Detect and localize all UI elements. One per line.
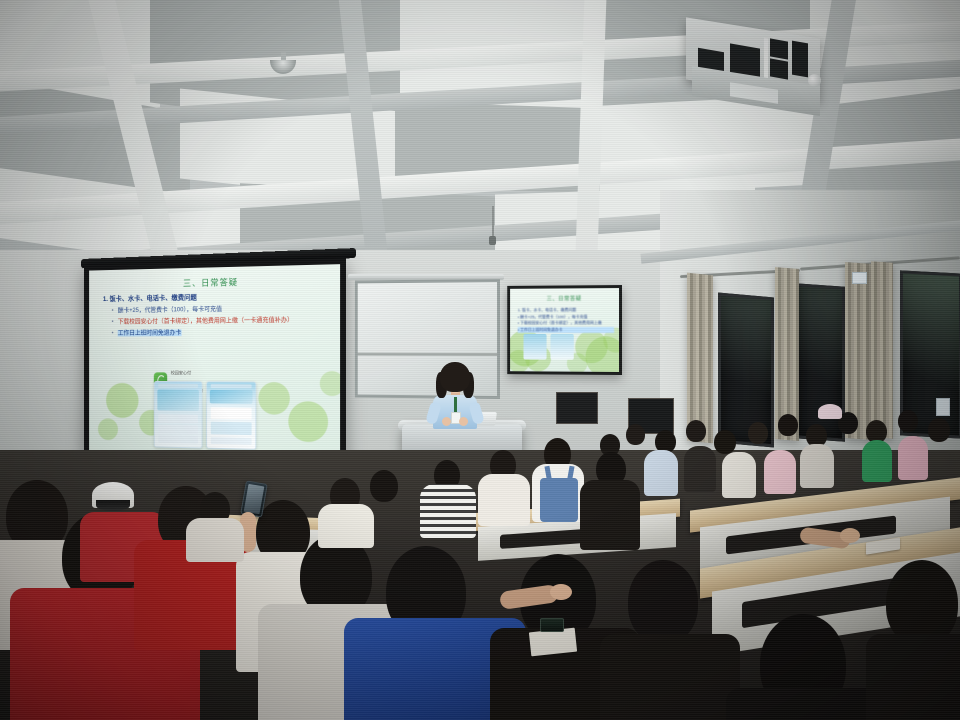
student-blue-shirt [644, 450, 678, 496]
projection-screen-right: 三、日常答疑 1. 饭卡、水卡、电话卡、缴费问题 • 酬卡+25，代管费卡（10… [507, 285, 622, 375]
wall-sign [936, 398, 950, 416]
window-curtain [871, 261, 893, 439]
hand [840, 528, 860, 543]
slide-app-thumb [550, 334, 573, 360]
student-green-top [862, 440, 892, 482]
ceiling-projector-unit [686, 28, 826, 113]
student-white-top [186, 518, 244, 562]
slide-line: • 工作日上班时间免退办卡 [112, 327, 331, 338]
student-white-top [722, 452, 756, 498]
slide-line-text: 下载校园安心付（首卡绑定），其他费用网上缴（一卡通充值补办） [118, 317, 294, 326]
phone-screen [244, 484, 265, 514]
slide-line-marker: 1. [103, 296, 108, 303]
slide-line-text: 饭卡、水卡、电话卡、缴费问题 [110, 295, 197, 303]
student-dark-top [684, 446, 716, 492]
hand [550, 584, 572, 600]
student-white-top [800, 444, 834, 488]
slide-left: 三、日常答疑 1. 饭卡、水卡、电话卡、缴费问题 • 酬卡+25，代管费卡（10… [89, 264, 340, 457]
presenter-hair [440, 362, 470, 392]
slide-body: 1. 饭卡、水卡、电话卡、缴费问题 • 酬卡+25，代管费卡（100），每卡充值… [518, 307, 614, 333]
slide-body: 1. 饭卡、水卡、电话卡、缴费问题 • 酬卡+25，代管费卡（100），每卡可充… [103, 291, 330, 340]
slide-app-figure: 校园安心付 校园生活服务平台 [154, 362, 264, 448]
slide-title: 三、日常答疑 [89, 273, 340, 291]
student-pink-top [764, 450, 796, 494]
slide-line-text: 酬卡+25，代管费卡（100），每卡可充值 [118, 306, 222, 314]
window [718, 293, 774, 448]
slide-line: • 工作日上班时间免退办卡 [518, 327, 614, 333]
classroom-photo-scene: 三、日常答疑 1. 饭卡、水卡、电话卡、缴费问题 • 酬卡+25，代管费卡（10… [0, 0, 960, 720]
student-dark-top [580, 480, 640, 550]
hanging-cable [492, 206, 494, 238]
denim-overall-bib [540, 478, 578, 522]
slide-line: • 下载校园安心付（首卡绑定），其他费用网上缴（一卡通充值补办） [112, 315, 331, 327]
slide-line-marker: • [112, 319, 114, 326]
student-white-top [318, 504, 374, 548]
student-dark-top [600, 634, 740, 720]
app-screenshot-1 [154, 381, 203, 449]
student-striped-shirt [420, 484, 476, 538]
phone-on-desk [540, 618, 564, 632]
cable-tip [489, 236, 496, 245]
projection-screen-left: 三、日常答疑 1. 饭卡、水卡、电话卡、缴费问题 • 酬卡+25，代管费卡（10… [84, 258, 346, 463]
app-name: 校园安心付 [171, 371, 191, 376]
cap-brim [96, 500, 130, 511]
student-pink-top [898, 436, 928, 480]
projector-lens-icon [808, 74, 821, 87]
student-white-top [478, 474, 530, 526]
slide-line-text: 工作日上班时间免退办卡 [118, 329, 181, 336]
slide-right: 三、日常答疑 1. 饭卡、水卡、电话卡、缴费问题 • 酬卡+25，代管费卡（10… [510, 288, 619, 372]
slide-line: • 酬卡+25，代管费卡（100），每卡可充值 [112, 303, 331, 316]
wall-sign [852, 272, 867, 284]
slide-line-marker: • [112, 307, 114, 314]
app-screenshot-2 [206, 381, 256, 450]
slide-line-marker: • [112, 330, 114, 337]
wall-notice-board [556, 392, 598, 424]
student-dark-top [866, 634, 960, 720]
student-head [628, 560, 698, 644]
slide-app-thumb [523, 334, 546, 360]
presenter-speaker [428, 362, 482, 428]
slide-title: 三、日常答疑 [510, 294, 619, 303]
window-curtain [687, 273, 713, 444]
student-cap [818, 404, 842, 419]
